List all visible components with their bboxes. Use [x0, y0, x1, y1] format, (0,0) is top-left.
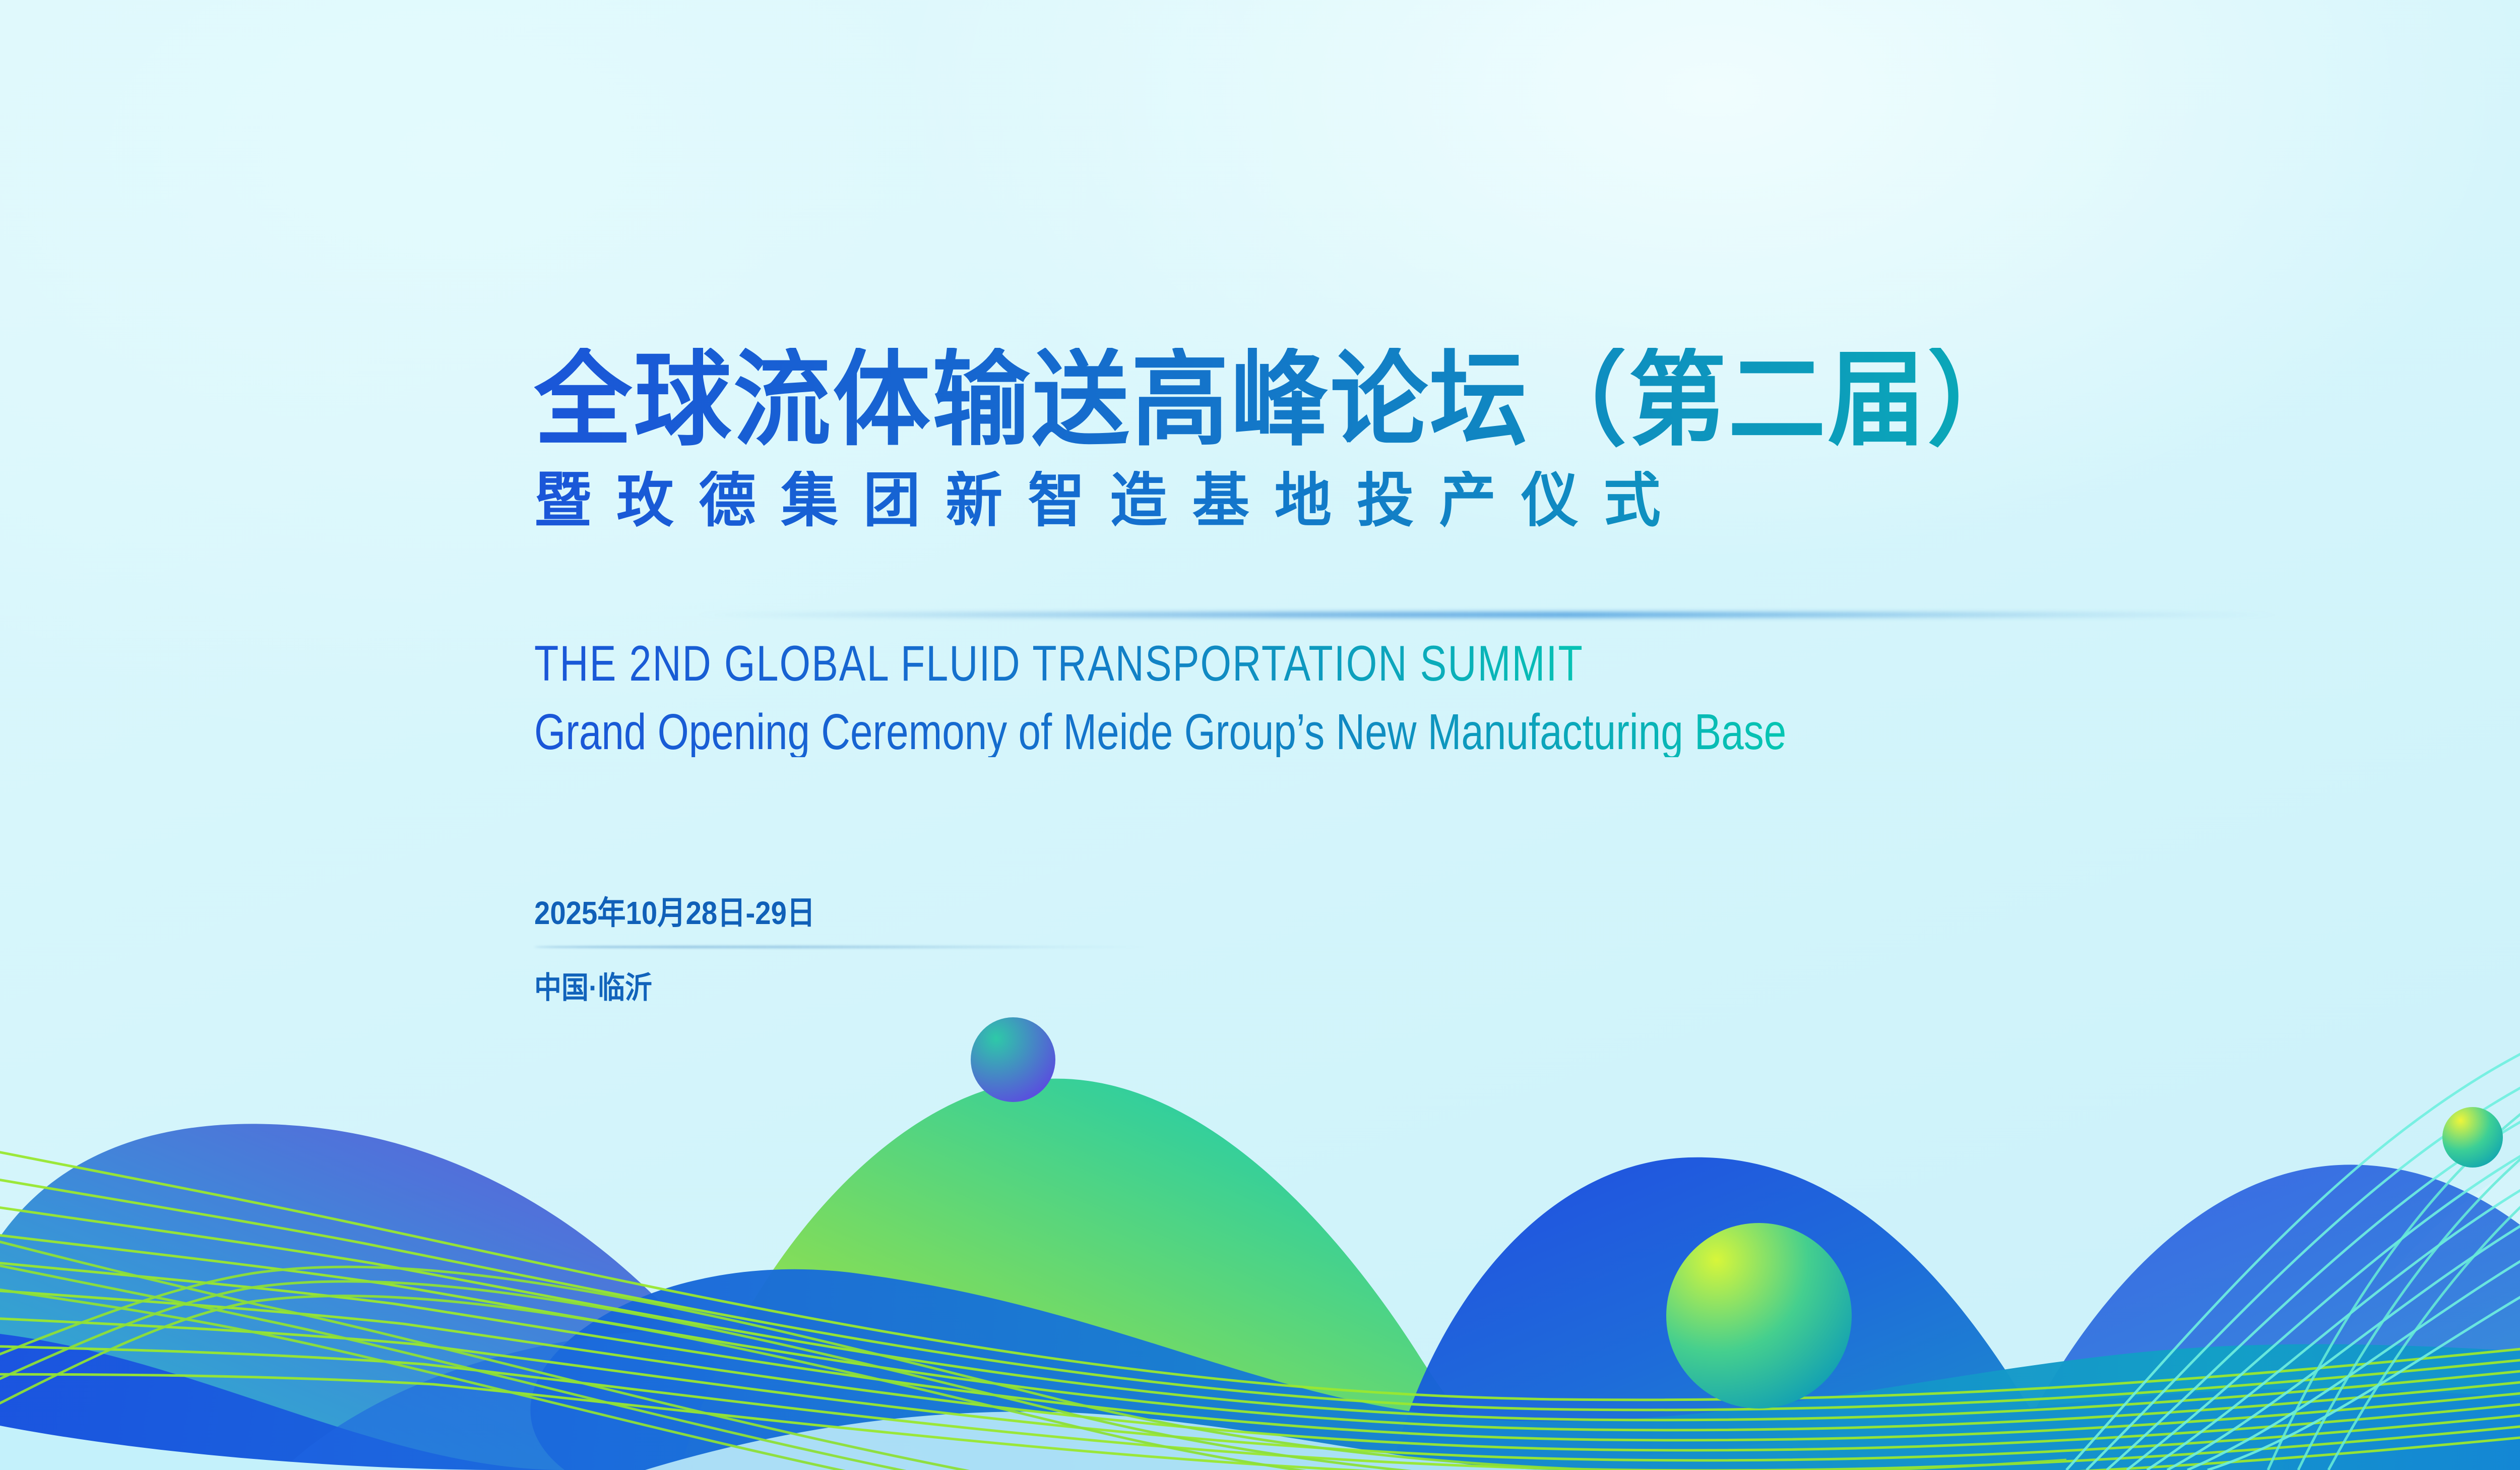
title-divider-glow — [685, 612, 2288, 617]
event-location: 中国·临沂 — [534, 963, 1305, 1007]
main-title: 全球流体输送高峰论坛（第二届） — [534, 348, 2520, 452]
meta-divider — [534, 946, 1154, 948]
sphere-large-lime — [1666, 1223, 1852, 1408]
event-meta-block: 2025年10月28日-29日 中国·临沂 — [534, 887, 1391, 1007]
english-title: THE 2ND GLOBAL FLUID TRANSPORTATION SUMM… — [534, 638, 1584, 688]
poster-text-block: 全球流体输送高峰论坛（第二届） 暨玫德集团新智造基地投产仪式 THE 2ND G… — [534, 348, 2520, 530]
event-poster-banner: 全球流体输送高峰论坛（第二届） 暨玫德集团新智造基地投产仪式 THE 2ND G… — [0, 0, 2520, 1470]
event-date: 2025年10月28日-29日 — [534, 887, 1288, 934]
sphere-small-lime — [2442, 1107, 2503, 1168]
sub-title: 暨玫德集团新智造基地投产仪式 — [534, 471, 2520, 530]
sphere-small-indigo — [971, 1017, 1055, 1102]
english-subtitle: Grand Opening Ceremony of Meide Group’s … — [534, 707, 1786, 757]
